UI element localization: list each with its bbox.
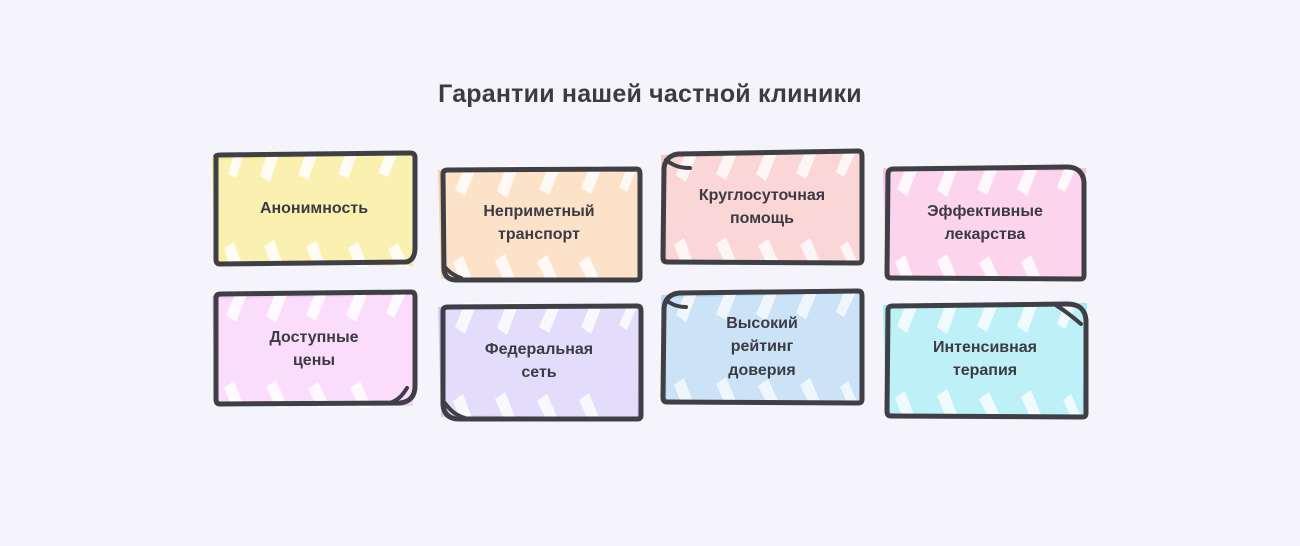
page-title: Гарантии нашей частной клиники [0,80,1300,109]
card-high-trust-rating[interactable]: Высокий рейтинг доверия [658,286,866,408]
cards-grid: Анонимность [200,140,1100,440]
card-intensive-therapy[interactable]: Интенсивная терапия [881,298,1089,420]
card-round-the-clock-help[interactable]: Круглосуточная помощь [658,146,866,268]
card-effective-medicines[interactable]: Эффективные лекарства [881,162,1089,284]
card-label: Анонимность [210,148,418,270]
card-label: Круглосуточная помощь [658,146,866,268]
guarantees-infographic: Гарантии нашей частной клиники [0,0,1300,546]
card-label: Интенсивная терапия [881,298,1089,420]
card-label: Высокий рейтинг доверия [658,286,866,408]
card-discreet-transport[interactable]: Неприметный транспорт [435,162,643,284]
card-federal-network[interactable]: Федеральная сеть [435,300,643,422]
card-label: Неприметный транспорт [435,162,643,284]
card-affordable-prices[interactable]: Доступные цены [210,288,418,410]
card-anonymity[interactable]: Анонимность [210,148,418,270]
card-label: Доступные цены [210,288,418,410]
card-label: Федеральная сеть [435,300,643,422]
card-label: Эффективные лекарства [881,162,1089,284]
